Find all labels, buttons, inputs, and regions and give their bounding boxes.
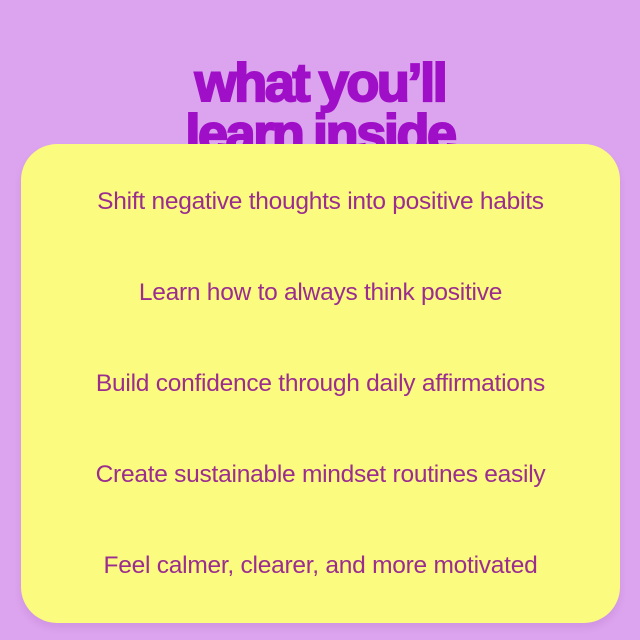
list-item: Shift negative thoughts into positive ha… [21,156,620,247]
list-item: Build confidence through daily affirmati… [21,338,620,429]
list-item: Feel calmer, clearer, and more motivated [21,520,620,611]
page-title-line-1: what you’ll [0,58,640,109]
benefits-list: Shift negative thoughts into positive ha… [21,144,620,623]
poster-canvas: what you’ll learn inside Shift negative … [0,0,640,640]
list-item: Learn how to always think positive [21,247,620,338]
list-item: Create sustainable mindset routines easi… [21,429,620,520]
benefits-card: Shift negative thoughts into positive ha… [21,144,620,623]
